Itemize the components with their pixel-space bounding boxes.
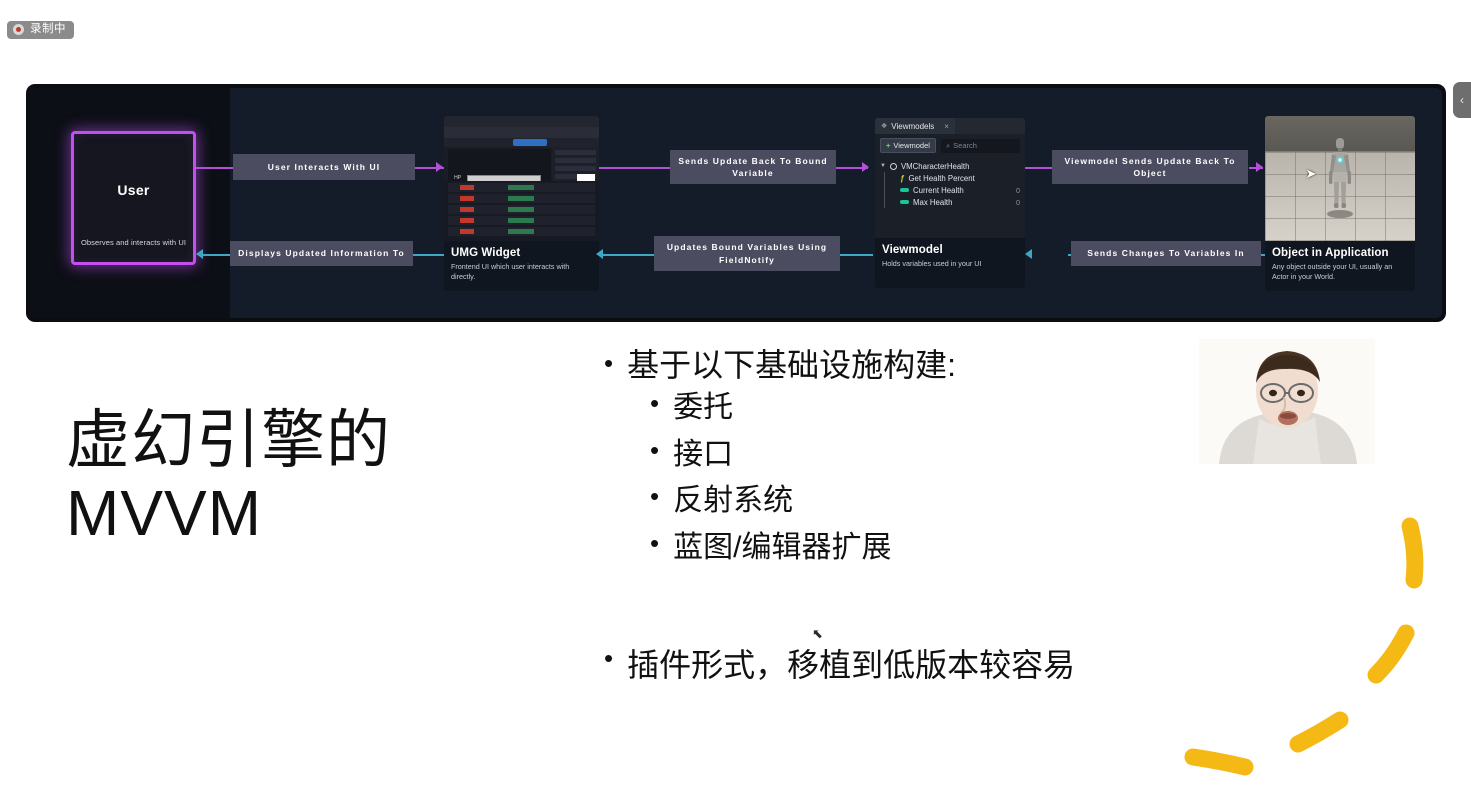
close-icon[interactable]: × [944,122,949,131]
mouse-cursor-icon: ⬉ [812,626,823,642]
viewmodels-tabbar: ❖ Viewmodels × [875,118,1025,134]
diagram-node-viewmodel[interactable]: ❖ Viewmodels × + Viewmodel ⌕ Search [875,118,1025,288]
sub-bullet-item: • 委托 [650,385,1264,432]
tree-label: Current Health [913,186,964,195]
bullet-dot: • [650,525,659,563]
bullet-dot: • [604,640,613,686]
tree-label: Max Health [913,198,952,207]
sub-bullet-text: 蓝图/编辑器扩展 [673,525,891,572]
diagram-node-umg-widget[interactable]: HP UMG Widget Frontend UI which user int… [444,116,599,291]
bullet-tail: • 插件形式，移植到低版本较容易 [604,640,1075,686]
tree-row-variable[interactable]: Current Health 0 [890,184,1020,196]
node-title-viewmodel: Viewmodel [882,244,1018,256]
edge-line [840,254,873,256]
tab-viewmodels-label: Viewmodels [891,122,934,131]
tree-value: 0 [1016,198,1020,207]
edge-arrowhead [1025,249,1032,259]
sub-bullet-text: 反射系统 [673,478,793,525]
edge-arrowhead [596,249,603,259]
edge-label-sends-update: Sends Update Back To Bound Variable [670,150,836,184]
node-title-umg-widget: UMG Widget [451,247,592,259]
chevron-left-icon: ‹ [1460,93,1464,107]
bullet-dot: • [604,345,613,383]
bullet-dot: • [650,478,659,516]
node-title-user: User [74,182,193,198]
viewmodel-tab-icon: ❖ [881,122,887,130]
slide-title: 虚幻引擎的 MVVM [66,404,546,550]
edge-line [1025,167,1052,169]
edge-arrowhead [862,162,869,172]
arc-stroke-4 [1193,757,1245,767]
bullet-tail-text: 插件形式，移植到低版本较容易 [627,640,1075,686]
slide-title-line1: 虚幻引擎的 [66,404,391,476]
yellow-arc-strokes [1160,500,1460,790]
edge-label-sends-changes: Sends Changes To Variables In [1071,241,1261,266]
variable-pill-icon [900,188,909,192]
tab-viewmodels[interactable]: ❖ Viewmodels × [875,118,955,134]
viewmodels-toolbar: + Viewmodel ⌕ Search [875,134,1025,157]
viewmodel-search-input[interactable]: ⌕ Search [941,139,1020,153]
node-subtitle-umg-widget: Frontend UI which user interacts with di… [451,262,592,281]
recording-badge[interactable]: 录制中 [7,21,74,39]
webcam-overlay[interactable] [1199,339,1375,464]
umg-editor-screenshot: HP [444,116,599,241]
sub-bullet-item: • 接口 [650,432,1264,479]
node-subtitle-user: Observes and interacts with UI [80,238,187,247]
panel-collapse-tab[interactable]: ‹ [1453,82,1471,118]
edge-arrowhead [1256,162,1263,172]
edge-arrowhead [196,249,203,259]
arc-stroke-1 [1410,526,1415,580]
sub-bullet-text: 委托 [673,385,733,432]
diagram-node-user[interactable]: User Observes and interacts with UI [71,131,196,265]
diagram-node-object[interactable]: ➤ Object in Application Any object outsi… [1265,116,1415,291]
function-fx-icon: ƒ [900,174,904,183]
edge-line [599,167,671,169]
arc-stroke-2 [1376,633,1406,675]
sub-bullet-text: 接口 [673,432,733,479]
search-icon: ⌕ [946,141,950,151]
edge-label-viewmodel-sends-update: Viewmodel Sends Update Back To Object [1052,150,1248,184]
node-title-object: Object in Application [1272,247,1408,259]
arc-stroke-3 [1298,720,1340,744]
variable-pill-icon [900,200,909,204]
node-subtitle-object: Any object outside your UI, usually an A… [1272,262,1408,281]
webcam-person [1199,339,1375,464]
chevron-down-icon[interactable]: ▼ [880,163,886,169]
class-circle-icon [890,163,897,170]
tree-label: VMCharacterHealth [901,162,969,171]
search-placeholder: Search [953,141,977,150]
viewport-cursor-icon: ➤ [1306,166,1317,182]
node-subtitle-viewmodel: Holds variables used in your UI [882,259,1018,269]
object-viewport-screenshot: ➤ [1265,116,1415,241]
edge-arrowhead [436,162,443,172]
mvvm-flow-diagram: User Observes and interacts with UI HP [26,84,1446,322]
viewmodels-panel: ❖ Viewmodels × + Viewmodel ⌕ Search [875,118,1025,238]
bullet-main: • 基于以下基础设施构建: [604,345,1264,385]
presentation-screen: 录制中 ‹ User Observes and interacts with U… [0,0,1471,796]
tree-row-function[interactable]: ƒ Get Health Percent [890,172,1020,184]
edge-label-user-interacts: User Interacts With UI [233,154,415,180]
recording-label: 录制中 [30,24,66,36]
tree-value: 0 [1016,186,1020,195]
edge-line [602,254,654,256]
bullet-dot: • [650,385,659,423]
record-dot-icon [13,24,24,35]
edge-label-updates-bound-vars: Updates Bound Variables Using FieldNotif… [654,236,840,271]
plus-icon: + [886,141,890,150]
tree-label: Get Health Percent [908,174,974,183]
edge-line [412,254,444,256]
slide-title-line2: MVVM [66,477,546,550]
diagram-canvas: User Observes and interacts with UI HP [30,88,1442,318]
bullet-main-text: 基于以下基础设施构建: [627,345,956,385]
add-viewmodel-button[interactable]: + Viewmodel [880,138,936,153]
add-viewmodel-label: Viewmodel [893,141,930,150]
tree-row-variable[interactable]: Max Health 0 [890,196,1020,208]
mannequin-figure-icon [1325,136,1355,224]
edge-label-displays-updated: Displays Updated Information To [230,241,413,266]
bullet-dot: • [650,432,659,470]
tree-row-class[interactable]: ▼ VMCharacterHealth [880,160,1020,172]
viewmodel-tree: ▼ VMCharacterHealth ƒ Get Health Percent [875,157,1025,208]
